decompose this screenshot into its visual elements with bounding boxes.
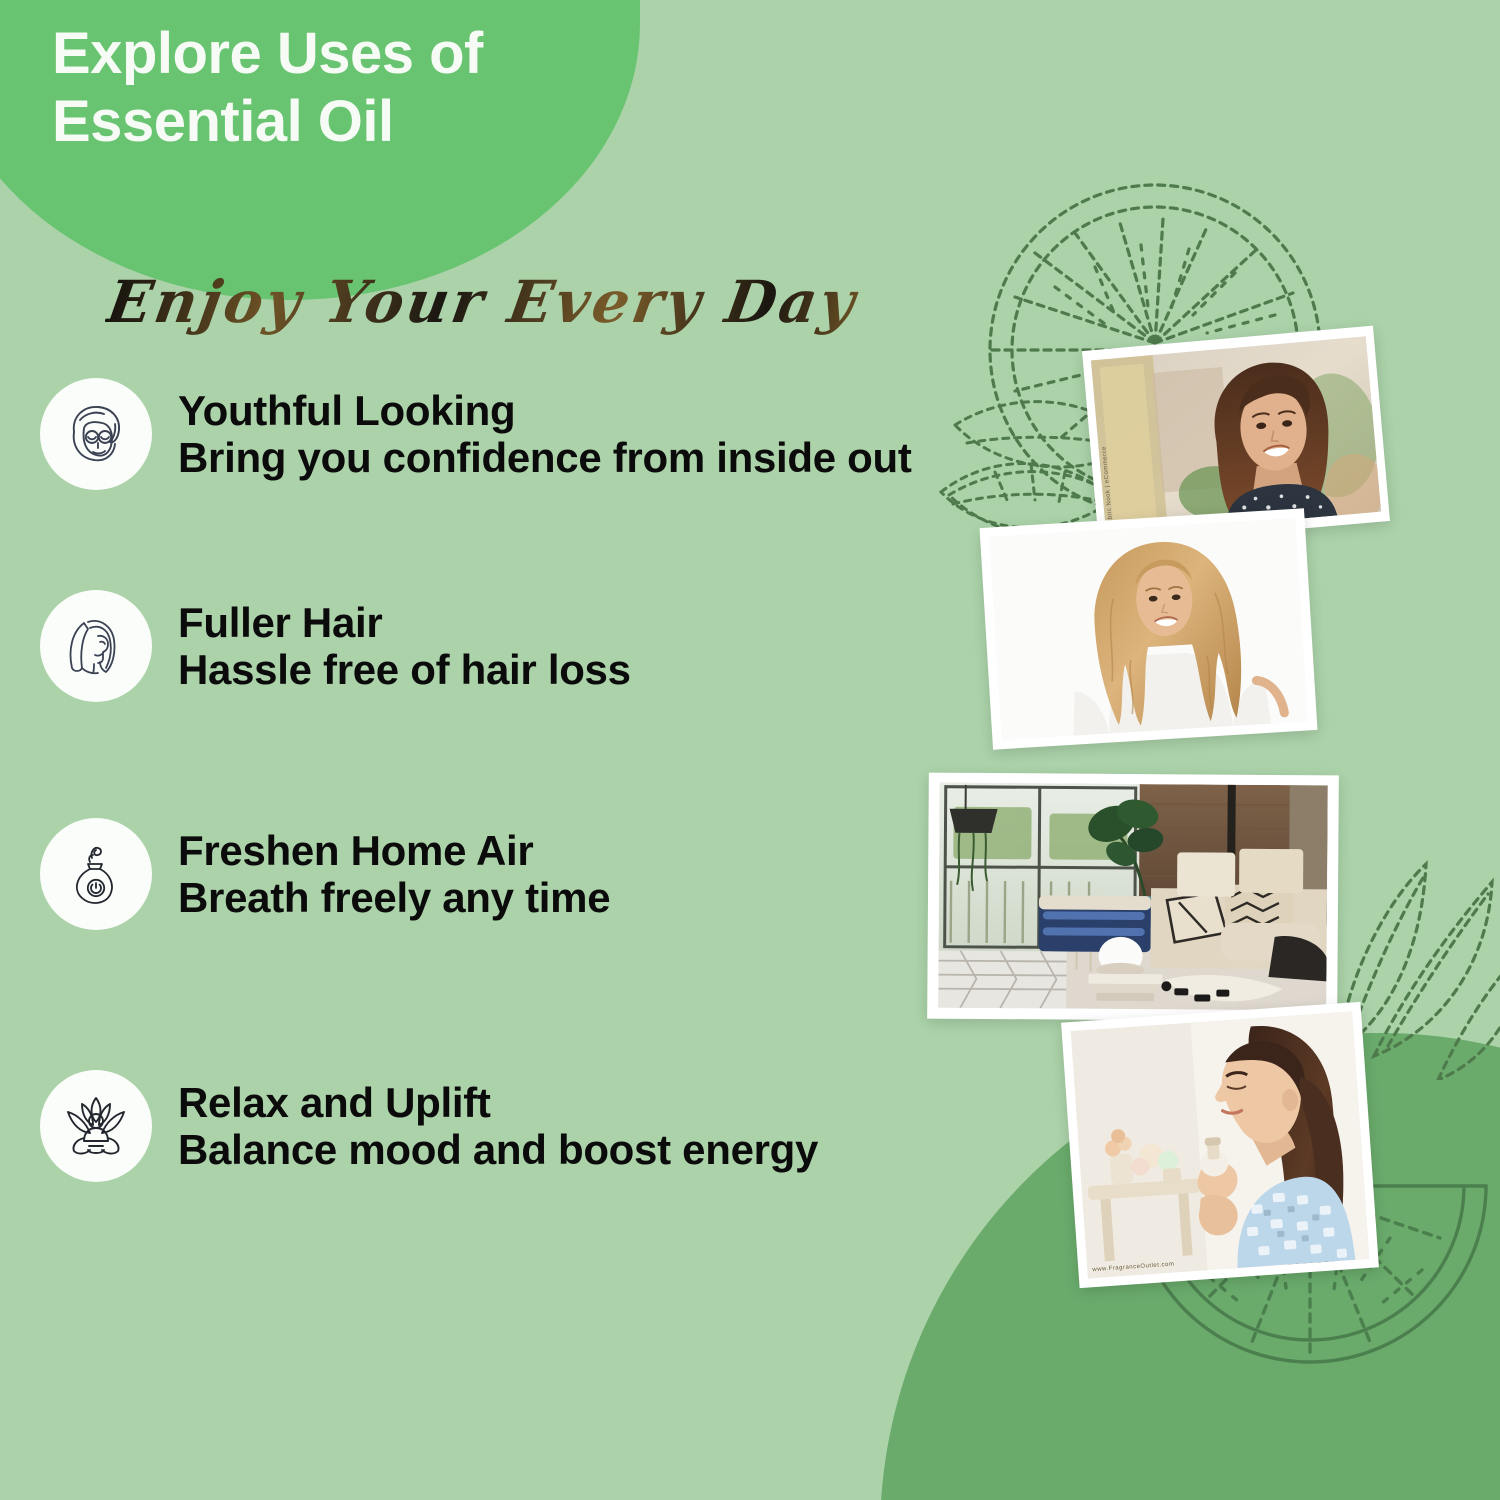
face-mask-icon <box>40 378 152 490</box>
feature-subtitle: Balance mood and boost energy <box>178 1126 818 1173</box>
feature-subtitle: Breath freely any time <box>178 874 610 921</box>
poster-canvas: Explore Uses of Essential Oil Enjoy Your… <box>0 0 1500 1500</box>
feature-text: Relax and Uplift Balance mood and boost … <box>178 1079 818 1173</box>
photo-long-wavy-hair <box>980 508 1318 749</box>
photo-woman-applying-perfume: www.FragranceOutlet.com <box>1061 1002 1379 1288</box>
feature-row[interactable]: Youthful Looking Bring you confidence fr… <box>40 378 912 490</box>
feature-subtitle: Hassle free of hair loss <box>178 646 631 693</box>
feature-title: Fuller Hair <box>178 599 631 646</box>
feature-text: Freshen Home Air Breath freely any time <box>178 827 610 921</box>
feature-row[interactable]: Fuller Hair Hassle free of hair loss <box>40 590 631 702</box>
lotus-meditation-icon <box>40 1070 152 1182</box>
feature-text: Youthful Looking Bring you confidence fr… <box>178 387 912 481</box>
photo-cozy-living-room-diffuser <box>927 773 1339 1022</box>
feature-title: Freshen Home Air <box>178 827 610 874</box>
feature-row[interactable]: Relax and Uplift Balance mood and boost … <box>40 1070 818 1182</box>
feature-subtitle: Bring you confidence from inside out <box>178 434 912 481</box>
page-title: Explore Uses of Essential Oil <box>52 20 483 156</box>
long-hair-profile-icon <box>40 590 152 702</box>
aroma-diffuser-icon <box>40 818 152 930</box>
feature-text: Fuller Hair Hassle free of hair loss <box>178 599 631 693</box>
photo-collage: Fabric Nook | eCommerce <box>0 0 1500 1500</box>
tagline: Enjoy Your Every Day <box>103 268 863 336</box>
feature-row[interactable]: Freshen Home Air Breath freely any time <box>40 818 610 930</box>
feature-title: Youthful Looking <box>178 387 912 434</box>
feature-title: Relax and Uplift <box>178 1079 818 1126</box>
